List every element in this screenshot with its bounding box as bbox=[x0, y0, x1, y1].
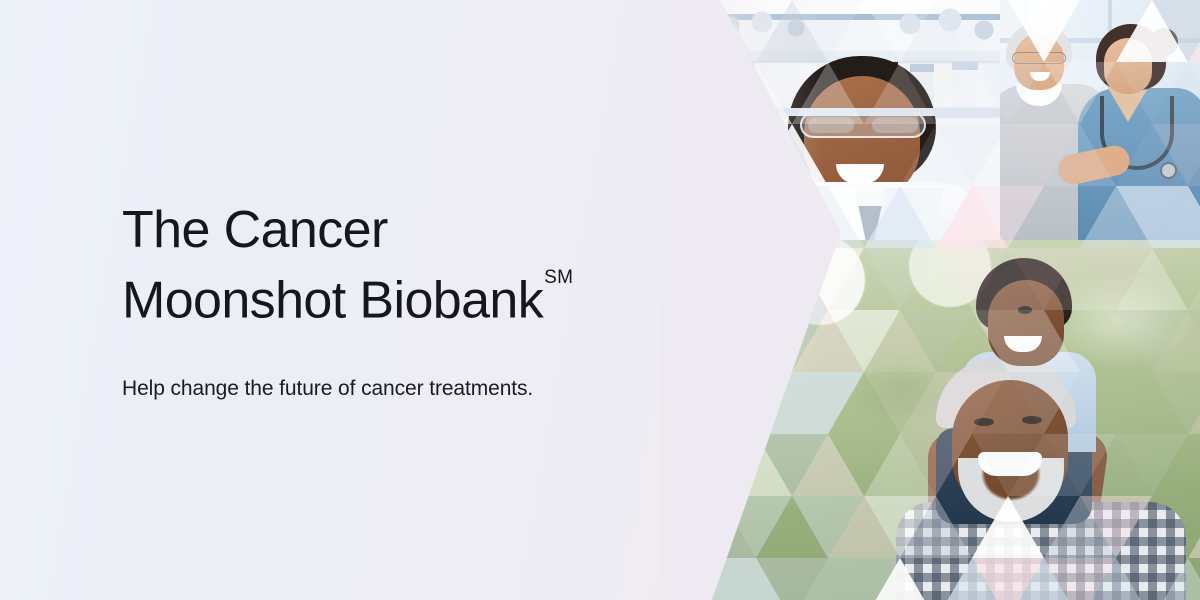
nurse-face bbox=[1104, 38, 1152, 94]
service-mark: SM bbox=[544, 267, 573, 288]
grandfather-eye-right bbox=[1022, 416, 1042, 424]
lab-scientist-figure bbox=[750, 56, 980, 240]
child-eye bbox=[1018, 306, 1032, 314]
safety-glasses-icon bbox=[800, 112, 926, 138]
headline-line-2: Moonshot BiobankSM bbox=[122, 262, 682, 332]
stethoscope-chestpiece-icon bbox=[1160, 162, 1177, 179]
hero-subheading: Help change the future of cancer treatme… bbox=[122, 374, 682, 404]
grandfather-smile bbox=[978, 452, 1042, 476]
child-face bbox=[988, 280, 1064, 366]
lab-scientist-photo bbox=[700, 0, 1000, 240]
headline-line-1: The Cancer bbox=[122, 198, 682, 262]
hero-copy-block: The Cancer Moonshot BiobankSM Help chang… bbox=[122, 198, 682, 404]
page-title: The Cancer Moonshot BiobankSM bbox=[122, 198, 682, 332]
grandfather-eye-left bbox=[974, 418, 994, 426]
clinician-patient-photo bbox=[1000, 0, 1200, 240]
patient-eyeglasses-icon bbox=[1012, 52, 1066, 64]
nurse-hair-bun bbox=[1150, 28, 1178, 56]
headline-line-2-text: Moonshot Biobank bbox=[122, 271, 543, 329]
hero-banner: The Cancer Moonshot BiobankSM Help chang… bbox=[0, 0, 1200, 600]
grandfather-child-photo bbox=[700, 240, 1200, 600]
